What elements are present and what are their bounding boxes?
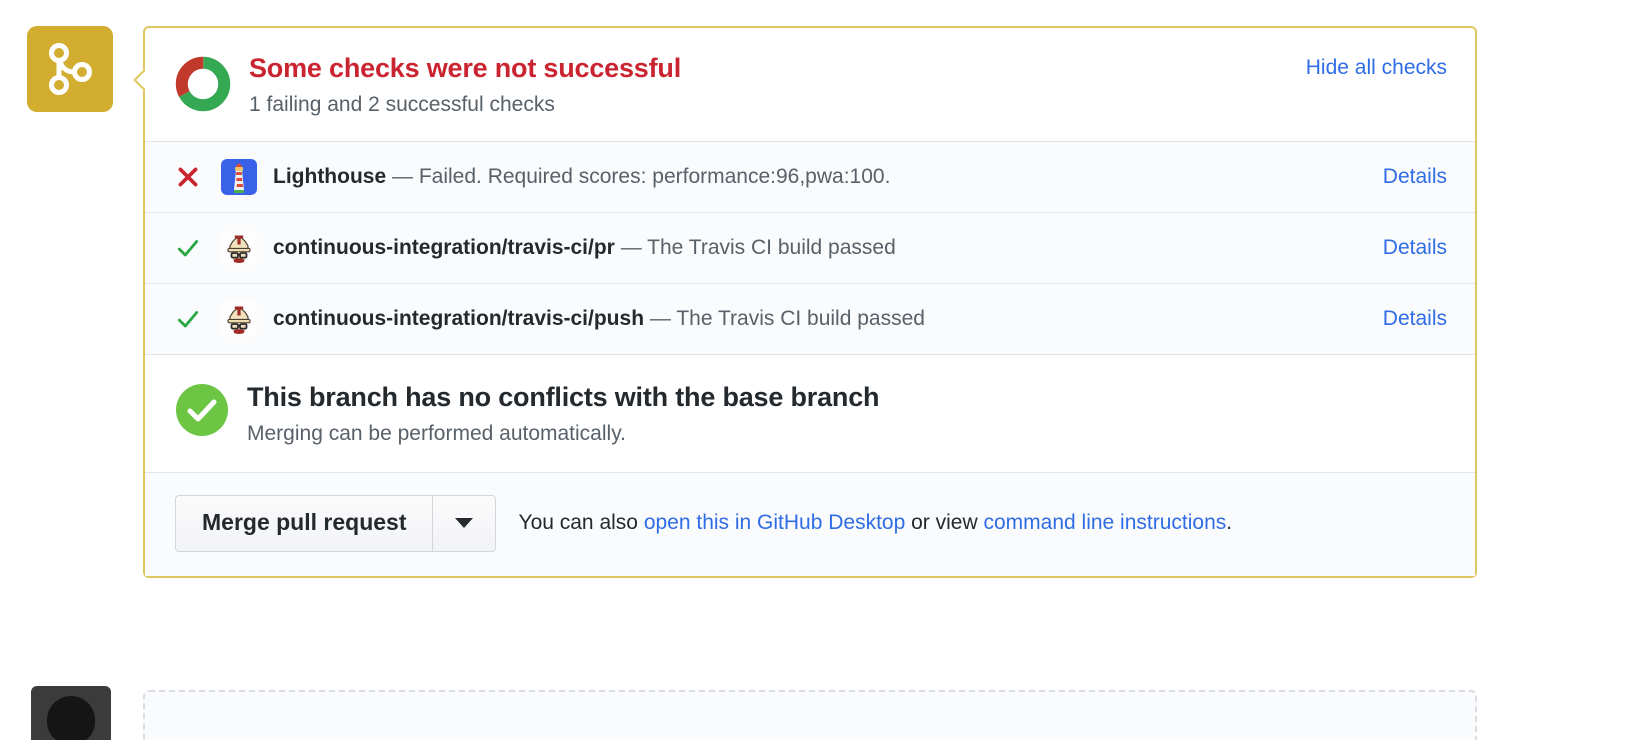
github-desktop-link[interactable]: open this in GitHub Desktop: [644, 511, 905, 534]
conflicts-subtitle: Merging can be performed automatically.: [247, 422, 1447, 446]
merge-alternatives-note: You can also open this in GitHub Desktop…: [518, 511, 1232, 535]
merge-pull-request-button[interactable]: Merge pull request: [175, 495, 432, 552]
check-row[interactable]: Lighthouse — Failed. Required scores: pe…: [145, 142, 1475, 213]
check-dash: —: [386, 165, 419, 188]
merge-status-box: Some checks were not successful 1 failin…: [143, 26, 1477, 578]
check-context: continuous-integration/travis-ci/pr: [273, 236, 615, 259]
travis-ci-icon: [221, 301, 257, 337]
conflicts-title: This branch has no conflicts with the ba…: [247, 381, 1447, 413]
checks-donut-icon: [175, 56, 231, 117]
check-details-link[interactable]: Details: [1383, 165, 1447, 189]
checks-status-header: Some checks were not successful 1 failin…: [145, 28, 1475, 141]
merge-method-dropdown-button[interactable]: [432, 495, 496, 552]
travis-ci-icon: [221, 230, 257, 266]
check-dash: —: [615, 236, 647, 259]
command-line-instructions-link[interactable]: command line instructions: [983, 511, 1226, 534]
note-suffix: .: [1226, 511, 1232, 534]
note-middle: or view: [905, 511, 983, 534]
checks-list: Lighthouse — Failed. Required scores: pe…: [145, 141, 1475, 354]
check-row[interactable]: continuous-integration/travis-ci/pr — Th…: [145, 213, 1475, 284]
check-row[interactable]: continuous-integration/travis-ci/push — …: [145, 284, 1475, 354]
merge-conflicts-section: This branch has no conflicts with the ba…: [145, 354, 1475, 472]
comment-compose-box[interactable]: [143, 690, 1477, 740]
check-icon: [175, 306, 221, 332]
checks-status-subtitle: 1 failing and 2 successful checks: [249, 91, 1306, 118]
check-icon: [175, 235, 221, 261]
check-dash: —: [644, 307, 676, 330]
lighthouse-icon: [221, 159, 257, 195]
merge-footer: Merge pull request You can also open thi…: [145, 472, 1475, 576]
check-text: Lighthouse — Failed. Required scores: pe…: [273, 163, 1363, 190]
checks-status-title: Some checks were not successful: [249, 52, 1306, 84]
check-description: Failed. Required scores: performance:96,…: [419, 165, 891, 188]
pull-request-merge-panel: Some checks were not successful 1 failin…: [0, 0, 1644, 740]
status-text-group: Some checks were not successful 1 failin…: [249, 52, 1306, 119]
check-circle-icon: [175, 383, 229, 442]
avatar-face: [47, 696, 95, 740]
check-context: continuous-integration/travis-ci/push: [273, 307, 644, 330]
chevron-down-icon: [455, 518, 473, 528]
check-text: continuous-integration/travis-ci/pr — Th…: [273, 234, 1363, 261]
conflicts-text-group: This branch has no conflicts with the ba…: [247, 381, 1447, 446]
git-pull-request-icon: [46, 42, 94, 96]
check-context: Lighthouse: [273, 165, 386, 188]
box-callout-arrow: [132, 66, 145, 92]
note-prefix: You can also: [518, 511, 643, 534]
check-text: continuous-integration/travis-ci/push — …: [273, 305, 1363, 332]
merge-button-group: Merge pull request: [175, 495, 496, 552]
check-details-link[interactable]: Details: [1383, 236, 1447, 260]
check-description: The Travis CI build passed: [676, 307, 925, 330]
check-description: The Travis CI build passed: [647, 236, 896, 259]
hide-all-checks-link[interactable]: Hide all checks: [1306, 56, 1447, 80]
avatar[interactable]: [31, 686, 111, 740]
pull-request-badge: [27, 26, 113, 112]
check-details-link[interactable]: Details: [1383, 307, 1447, 331]
x-icon: [175, 164, 221, 190]
